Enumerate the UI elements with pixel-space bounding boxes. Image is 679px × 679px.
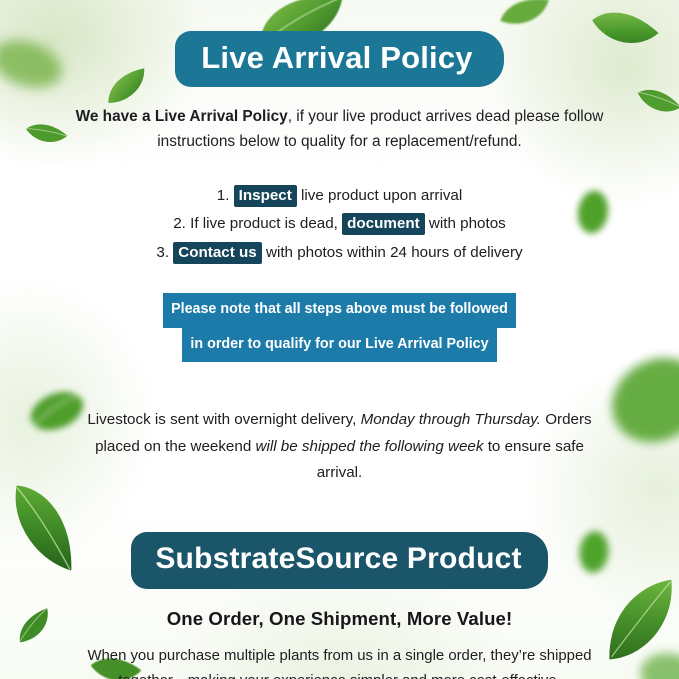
step-highlight-document: document (342, 213, 425, 235)
product-banner-title: SubstrateSource Product (131, 532, 547, 589)
shipping-note-line1-italic: Monday through Thursday. (361, 411, 541, 428)
list-item: 1. Inspect live product upon arrival (0, 182, 679, 211)
step-highlight-inspect: Inspect (234, 185, 297, 207)
product-closing-paragraph: When you purchase multiple plants from u… (75, 644, 605, 679)
shipping-note-line1-text: Livestock is sent with overnight deliver… (87, 411, 360, 428)
shipping-note-paragraph: Livestock is sent with overnight deliver… (80, 407, 600, 485)
policy-note-block: Please note that all steps above must be… (0, 293, 679, 363)
step-number: 3. (156, 244, 169, 261)
step-highlight-contact-us[interactable]: Contact us (173, 242, 261, 264)
product-section: SubstrateSource Product One Order, One S… (0, 532, 679, 679)
live-arrival-policy-page: Live Arrival Policy We have a Live Arriv… (0, 0, 679, 679)
live-arrival-banner-title: Live Arrival Policy (175, 31, 503, 87)
step-text-after: with photos within 24 hours of delivery (262, 244, 523, 261)
step-text-before: If live product is dead, (190, 215, 342, 232)
list-item: 3. Contact us with photos within 24 hour… (0, 239, 679, 268)
policy-note-line-1: Please note that all steps above must be… (163, 293, 516, 328)
intro-paragraph: We have a Live Arrival Policy, if your l… (70, 105, 610, 155)
step-text-after: live product upon arrival (297, 187, 462, 204)
policy-note-line-2: in order to qualify for our Live Arrival… (182, 328, 496, 363)
product-tagline: One Order, One Shipment, More Value! (0, 608, 679, 630)
steps-list: 1. Inspect live product upon arrival 2. … (0, 182, 679, 268)
step-number: 1. (217, 187, 230, 204)
intro-bold-text: We have a Live Arrival Policy (76, 108, 288, 125)
closing-line-2: together—making your experience simpler … (118, 673, 561, 679)
closing-line-1: When you purchase multiple plants from u… (87, 648, 591, 664)
list-item: 2. If live product is dead, document wit… (0, 210, 679, 239)
shipping-note-line2-italic: will be shipped the following week (256, 438, 484, 455)
product-banner-row: SubstrateSource Product (0, 532, 679, 589)
step-number: 2. (173, 215, 186, 232)
live-arrival-banner-row: Live Arrival Policy (0, 0, 679, 87)
step-text-after: with photos (425, 215, 506, 232)
